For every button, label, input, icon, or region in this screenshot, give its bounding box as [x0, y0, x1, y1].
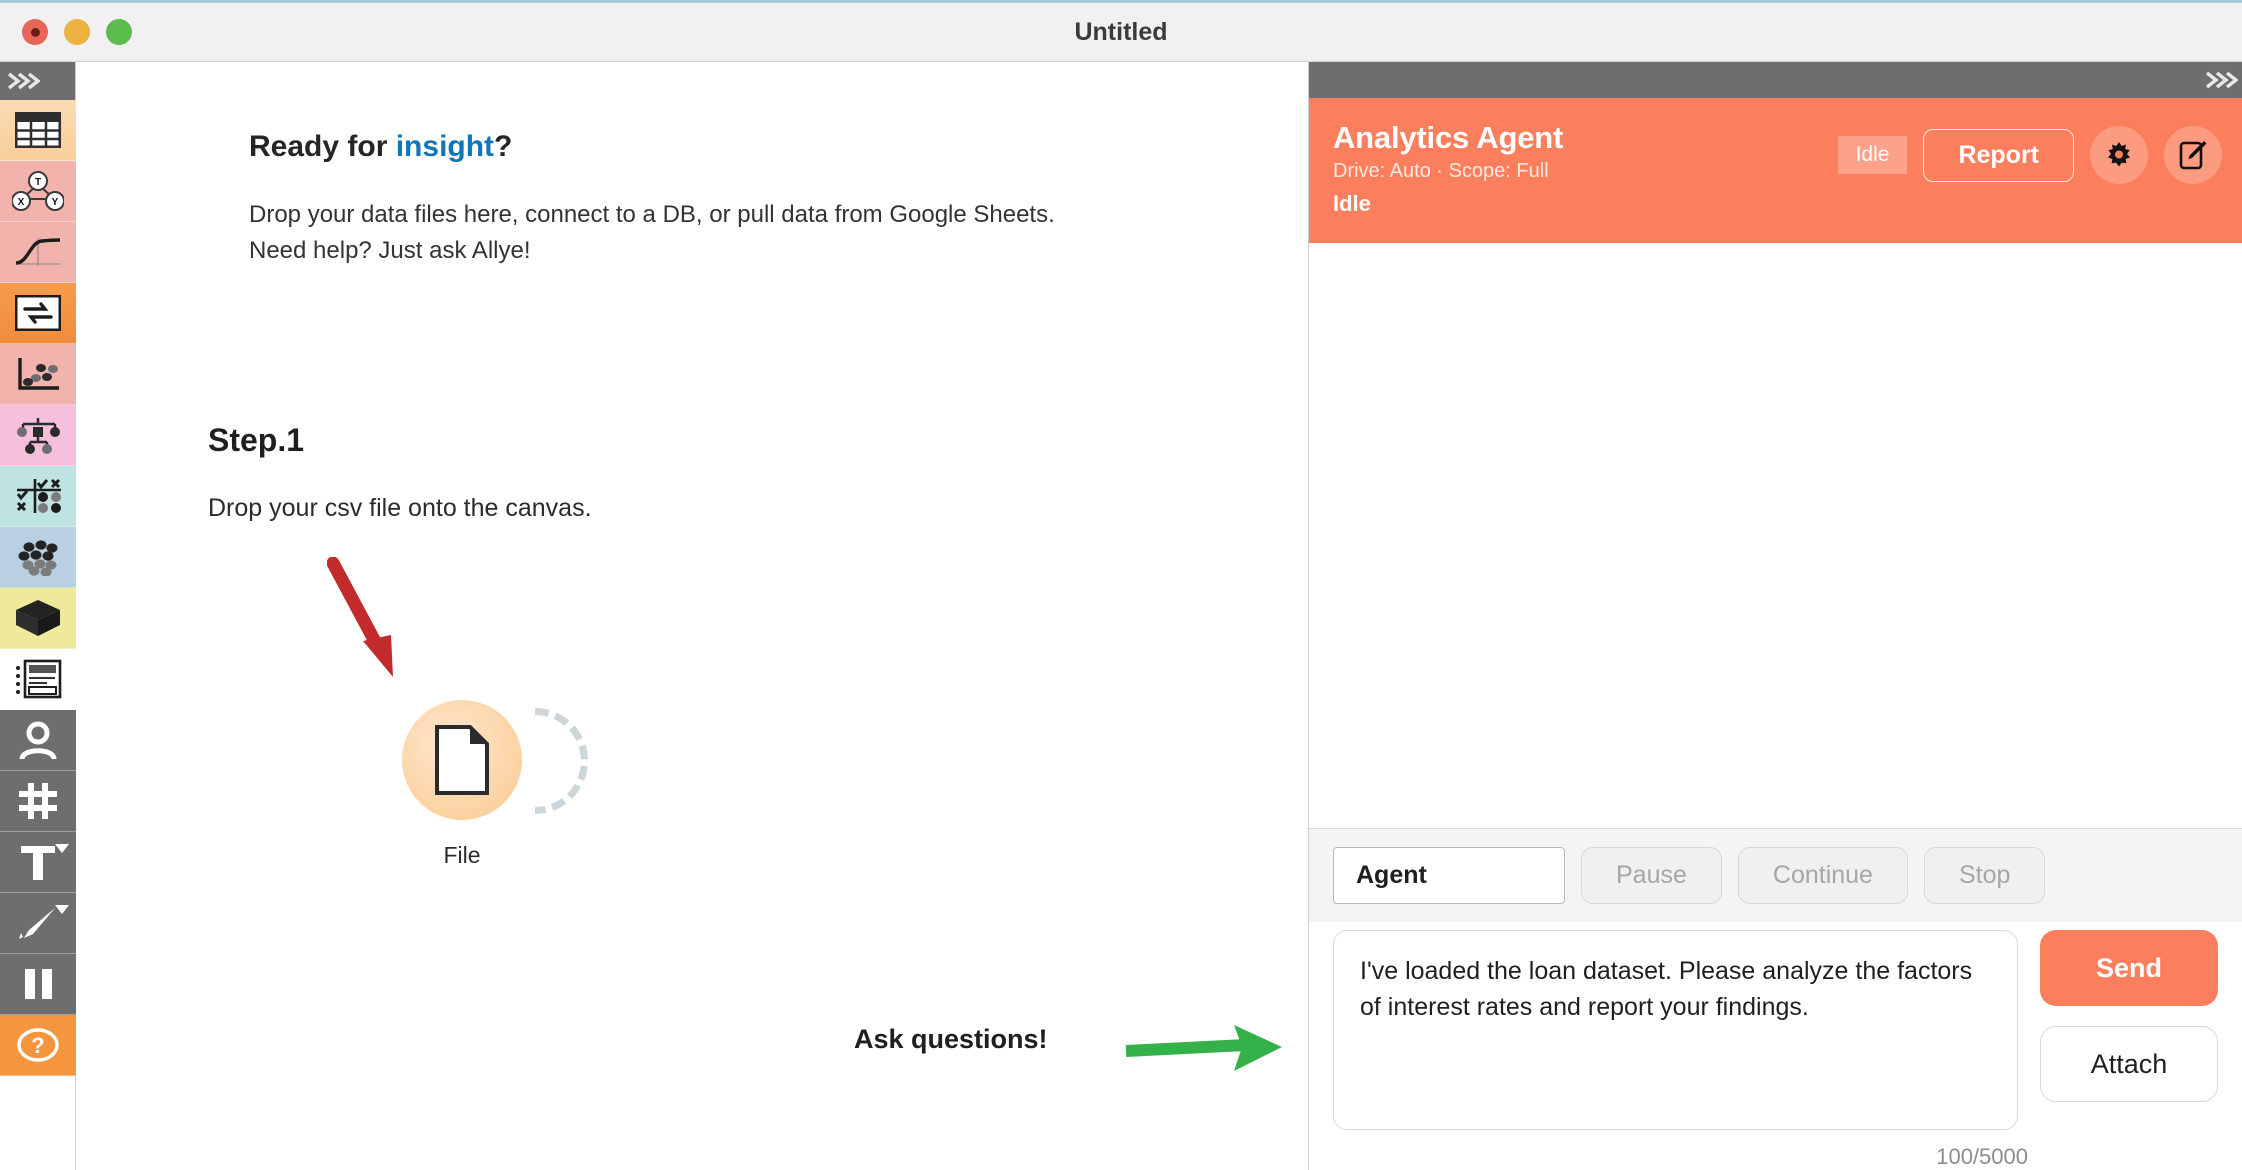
close-button[interactable] — [22, 19, 48, 45]
intro-line-1: Drop your data files here, connect to a … — [249, 197, 1055, 233]
svg-text:X: X — [18, 197, 25, 208]
table-icon — [15, 112, 61, 148]
tool-pause[interactable] — [0, 954, 76, 1015]
tool-convert[interactable] — [0, 283, 76, 344]
send-button[interactable]: Send — [2040, 930, 2218, 1006]
window-title: Untitled — [0, 3, 2242, 61]
pause-icon — [19, 966, 57, 1002]
tool-person[interactable] — [0, 710, 76, 771]
chevron-double-right-icon — [6, 71, 40, 91]
compose-buttons: Send Attach — [2040, 930, 2218, 1130]
agent-panel: Analytics Agent Drive: Auto · Scope: Ful… — [1308, 62, 2242, 1170]
tree-diagram-icon — [13, 415, 63, 455]
tool-model-graph[interactable]: T X Y — [0, 161, 76, 222]
svg-text:T: T — [35, 177, 41, 188]
chevron-down-icon — [55, 844, 69, 853]
left-toolbar: T X Y — [0, 62, 76, 1170]
intro-line-2: Need help? Just ask Allye! — [249, 233, 1055, 269]
toolbar-collapse-button[interactable] — [0, 62, 75, 100]
red-arrow-annotation — [327, 557, 417, 692]
minimize-button[interactable] — [64, 19, 90, 45]
help-icon: ? — [15, 1025, 61, 1065]
maximize-button[interactable] — [106, 19, 132, 45]
ask-questions-label: Ask questions! — [854, 1024, 1048, 1055]
cube-icon — [13, 597, 63, 639]
model-graph-icon: T X Y — [12, 171, 64, 211]
window-titlebar: Untitled — [0, 0, 2242, 62]
heading-accent: insight — [396, 130, 494, 163]
person-icon — [17, 721, 59, 759]
stop-button[interactable]: Stop — [1924, 847, 2045, 904]
tool-cube[interactable] — [0, 588, 76, 649]
canvas-intro: Drop your data files here, connect to a … — [249, 197, 1055, 269]
tool-tree[interactable] — [0, 405, 76, 466]
heading-suffix: ? — [494, 130, 512, 163]
tool-text[interactable] — [0, 832, 76, 893]
convert-icon — [15, 295, 61, 331]
agent-header-controls: Idle Report — [1838, 126, 2222, 184]
pencil-square-icon — [2178, 139, 2208, 171]
tool-grid[interactable] — [0, 771, 76, 832]
step-text: Drop your csv file onto the canvas. — [208, 494, 592, 523]
continue-button[interactable]: Continue — [1738, 847, 1908, 904]
cluster-icon — [13, 538, 63, 576]
tool-pen[interactable] — [0, 893, 76, 954]
chevron-down-icon — [55, 905, 69, 914]
app-window: Untitled — [0, 0, 2242, 1170]
grid-icon — [16, 781, 60, 821]
attach-button[interactable]: Attach — [2040, 1026, 2218, 1102]
settings-button[interactable] — [2090, 126, 2148, 184]
agent-header: Analytics Agent Drive: Auto · Scope: Ful… — [1309, 98, 2242, 243]
report-icon — [14, 659, 62, 699]
scatter-plot-icon — [14, 355, 62, 393]
status-badge: Idle — [1838, 136, 1908, 174]
pause-button[interactable]: Pause — [1581, 847, 1722, 904]
arrow-down-right-icon — [327, 557, 417, 687]
green-arrow-annotation — [1122, 1017, 1287, 1084]
chevron-double-right-icon — [2204, 70, 2238, 90]
text-icon — [17, 842, 59, 882]
svg-text:Y: Y — [52, 197, 59, 208]
step-title: Step.1 — [208, 422, 304, 459]
agent-mode-select[interactable]: Agent — [1333, 847, 1565, 904]
svg-text:?: ? — [31, 1033, 44, 1058]
file-node-circle — [402, 700, 522, 820]
arrow-right-icon — [1122, 1017, 1287, 1079]
tool-table[interactable] — [0, 100, 76, 161]
file-drop-node[interactable]: File — [394, 700, 564, 869]
character-counter: 100/5000 — [1309, 1130, 2242, 1170]
file-node-label: File — [394, 842, 530, 869]
agent-control-row: Agent Pause Continue Stop — [1309, 828, 2242, 922]
agent-state: Idle — [1333, 191, 2218, 217]
agent-panel-collapse-button[interactable] — [1309, 62, 2242, 98]
compose-area: I've loaded the loan dataset. Please ana… — [1309, 922, 2242, 1130]
canvas-heading: Ready for insight? — [249, 130, 512, 164]
tool-report[interactable] — [0, 649, 76, 710]
tool-scatter[interactable] — [0, 344, 76, 405]
tool-help[interactable]: ? — [0, 1015, 76, 1076]
heading-prefix: Ready for — [249, 130, 396, 163]
matrix-icon — [13, 477, 63, 515]
tool-curve[interactable] — [0, 222, 76, 283]
message-input[interactable]: I've loaded the loan dataset. Please ana… — [1333, 930, 2018, 1130]
main-canvas[interactable]: Ready for insight? Drop your data files … — [77, 62, 1303, 1170]
file-icon — [434, 724, 490, 796]
tool-cluster[interactable] — [0, 527, 76, 588]
tool-matrix[interactable] — [0, 466, 76, 527]
agent-conversation-log — [1309, 243, 2242, 828]
gear-icon — [2104, 140, 2134, 170]
edit-button[interactable] — [2164, 126, 2222, 184]
report-button[interactable]: Report — [1923, 129, 2074, 182]
traffic-lights — [22, 19, 132, 45]
sigmoid-curve-icon — [12, 234, 64, 270]
